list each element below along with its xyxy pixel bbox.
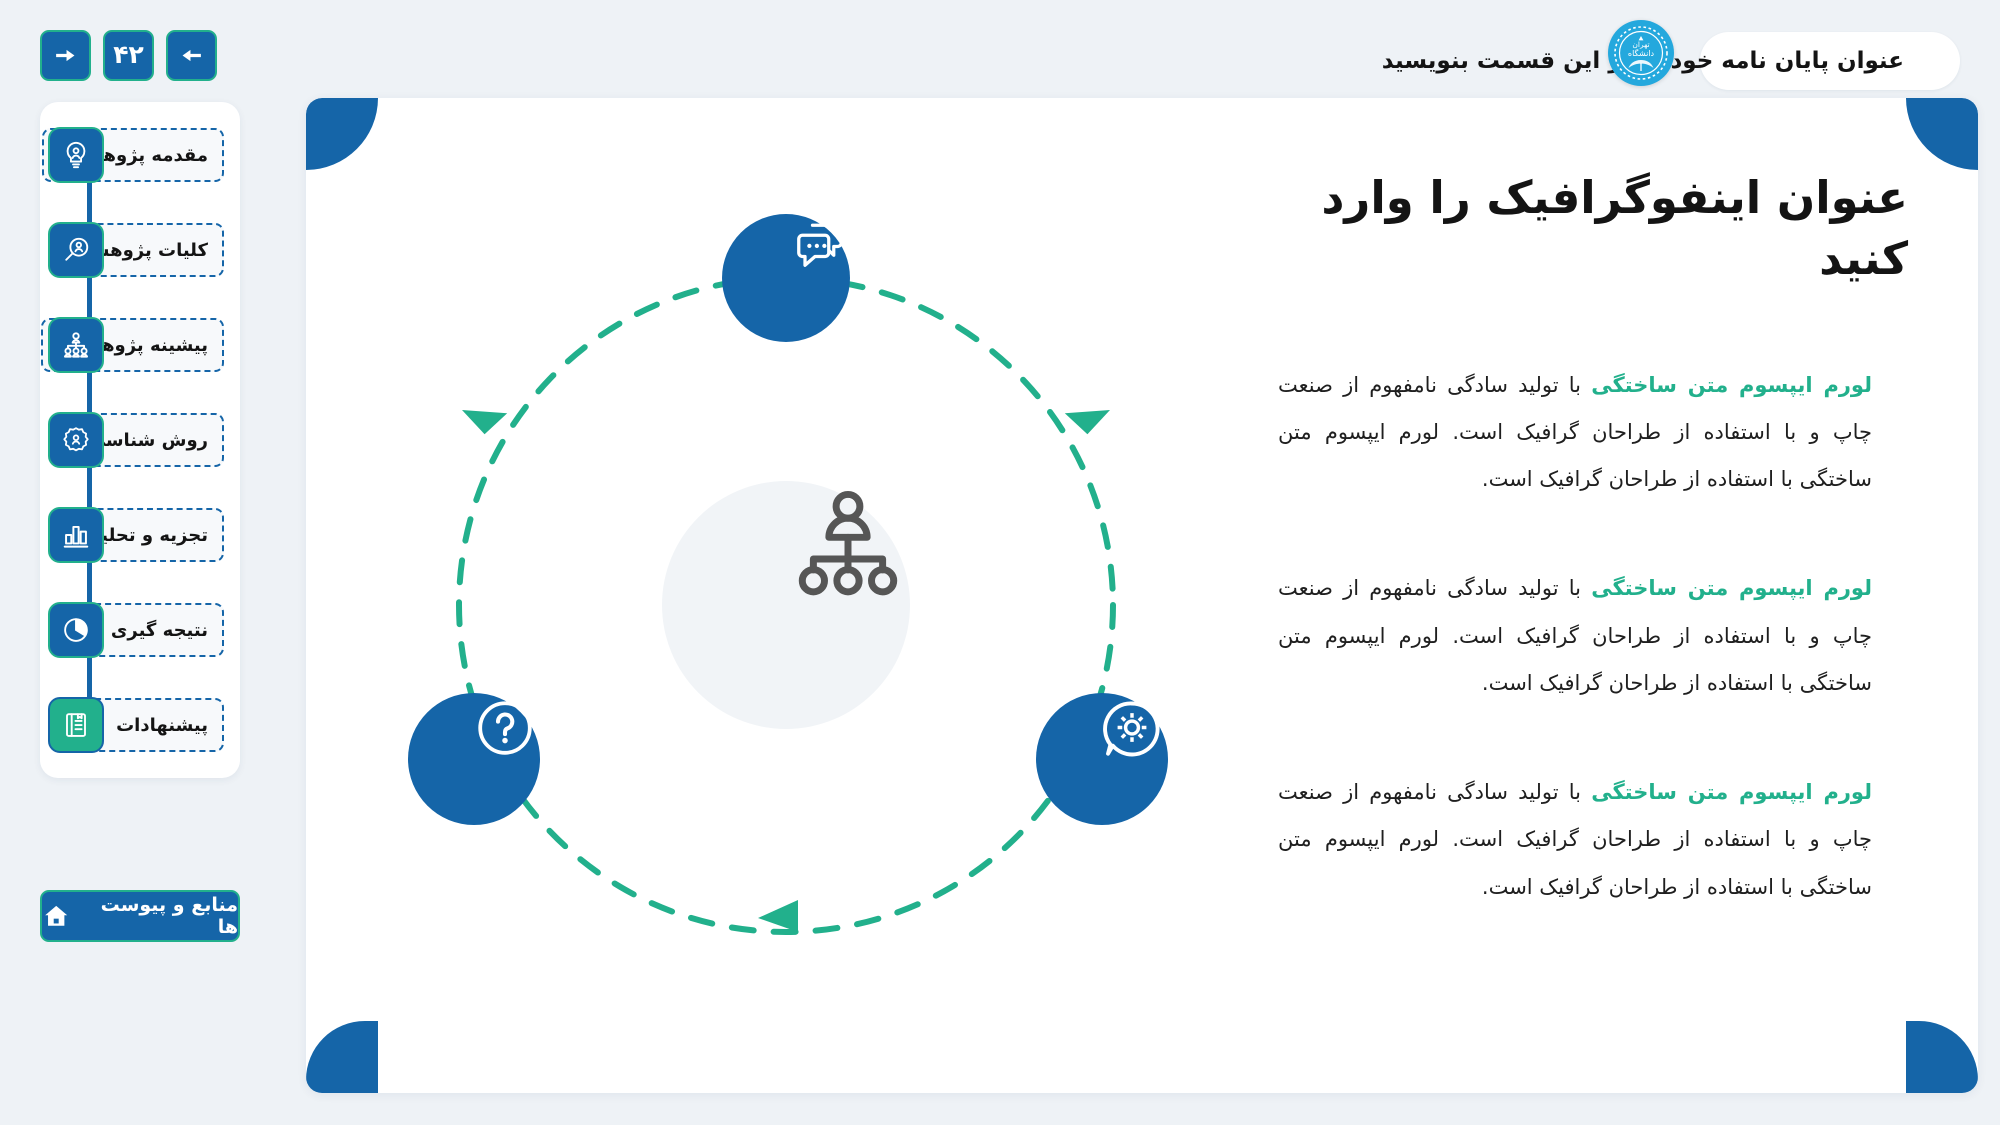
- corner-decoration-bottom-left: [306, 1021, 378, 1093]
- arrow-right-icon: [53, 43, 78, 68]
- chat-bubbles-icon: [790, 214, 850, 274]
- svg-text:تهران: تهران: [1632, 40, 1649, 49]
- references-label: منابع و پیوست ها: [82, 894, 238, 938]
- paragraph-1: لورم ایپسوم متن ساختگی با تولید سادگی نا…: [1278, 362, 1908, 504]
- page-number-value: ۴۲: [113, 42, 144, 69]
- diagram-node-bottom-right[interactable]: [1036, 693, 1168, 825]
- people-network-icon: [48, 317, 104, 373]
- gear-person-icon: [48, 412, 104, 468]
- paragraph-1-highlight: لورم ایپسوم متن ساختگی: [1591, 373, 1872, 397]
- sidebar-item-analysis[interactable]: تجزیه و تحلیل: [56, 508, 224, 562]
- notebook-icon: [48, 697, 104, 753]
- paragraph-2-highlight: لورم ایپسوم متن ساختگی: [1591, 576, 1872, 600]
- pager-controls: ۴۲: [40, 30, 217, 81]
- sidebar-item-conclusion[interactable]: نتیجه گیری: [56, 603, 224, 657]
- text-column: عنوان اینفوگرافیک را وارد کنید لورم ایپس…: [1278, 168, 1908, 973]
- magnifier-person-icon: [48, 222, 104, 278]
- diagram-node-bottom-left[interactable]: [408, 693, 540, 825]
- slide-content-card: عنوان اینفوگرافیک را وارد کنید لورم ایپس…: [306, 98, 1978, 1093]
- diagram-hub: [662, 481, 910, 729]
- lightbulb-person-icon: [48, 127, 104, 183]
- sidebar-item-overview[interactable]: کلیات پژوهش: [56, 223, 224, 277]
- corner-decoration-top-right: [1906, 98, 1978, 170]
- sidebar-item-label: روش شناسی: [88, 430, 208, 451]
- circular-process-diagram: [406, 128, 1166, 1028]
- sidebar-item-label: پیشنهادات: [116, 715, 208, 736]
- previous-slide-button[interactable]: [166, 30, 217, 81]
- paragraph-3-highlight: لورم ایپسوم متن ساختگی: [1591, 780, 1872, 804]
- corner-decoration-top-left: [306, 98, 378, 170]
- university-of-tehran-seal-icon: تهران دانشگاه: [1608, 20, 1674, 86]
- paragraph-2: لورم ایپسوم متن ساختگی با تولید سادگی نا…: [1278, 565, 1908, 707]
- sidebar-item-literature-review[interactable]: پیشینه پژوهش: [56, 318, 224, 372]
- sidebar-item-label: نتیجه گیری: [111, 620, 208, 641]
- next-slide-button[interactable]: [40, 30, 91, 81]
- paragraph-3: لورم ایپسوم متن ساختگی با تولید سادگی نا…: [1278, 769, 1908, 911]
- infographic-title: عنوان اینفوگرافیک را وارد کنید: [1278, 168, 1908, 290]
- diagram-node-top[interactable]: [722, 214, 850, 342]
- arrow-left-icon: [179, 43, 204, 68]
- section-navigation-sidebar: مقدمه پژوهش کلیات پژوهش پیشینه پژو: [40, 102, 240, 778]
- header-title-bar: عنوان پایان نامه خود را در این قسمت بنوی…: [1700, 32, 1960, 90]
- bar-chart-icon: [48, 507, 104, 563]
- corner-decoration-bottom-right: [1906, 1021, 1978, 1093]
- question-mark-circle-icon: [470, 693, 540, 763]
- svg-text:دانشگاه: دانشگاه: [1628, 48, 1655, 58]
- home-icon: [42, 901, 70, 931]
- references-and-attachments-button[interactable]: منابع و پیوست ها: [40, 890, 240, 942]
- page-number-display: ۴۲: [103, 30, 154, 81]
- sidebar-item-introduction[interactable]: مقدمه پژوهش: [56, 128, 224, 182]
- sidebar-item-suggestions[interactable]: پیشنهادات: [56, 698, 224, 752]
- org-chart-hierarchy-icon: [786, 481, 910, 605]
- pie-chart-icon: [48, 602, 104, 658]
- sidebar-item-methodology[interactable]: روش شناسی: [56, 413, 224, 467]
- gear-in-speech-bubble-icon: [1096, 693, 1168, 765]
